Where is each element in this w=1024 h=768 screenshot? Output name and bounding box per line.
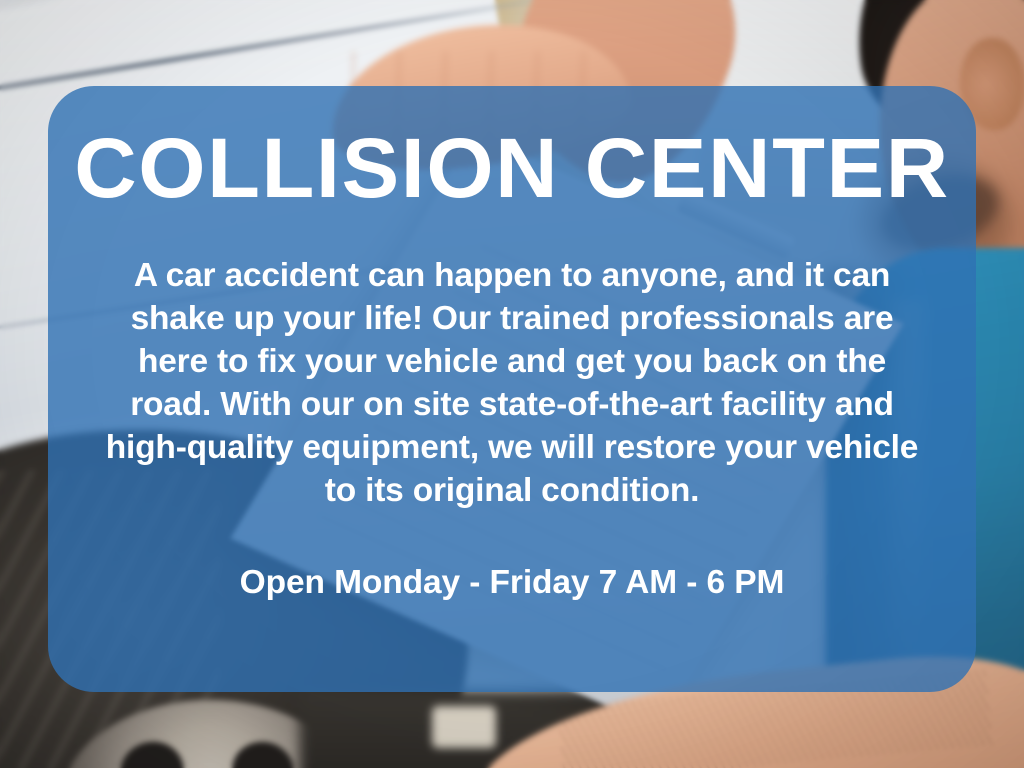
poster-description: A car accident can happen to anyone, and… xyxy=(102,254,922,512)
poster-title: COLLISION CENTER xyxy=(74,126,950,210)
poster-canvas: COLLISION CENTER A car accident can happ… xyxy=(0,0,1024,768)
blue-overlay-card: COLLISION CENTER A car accident can happ… xyxy=(48,86,976,692)
blurred-light-patch xyxy=(432,706,496,748)
poster-business-hours: Open Monday - Friday 7 AM - 6 PM xyxy=(240,562,785,604)
